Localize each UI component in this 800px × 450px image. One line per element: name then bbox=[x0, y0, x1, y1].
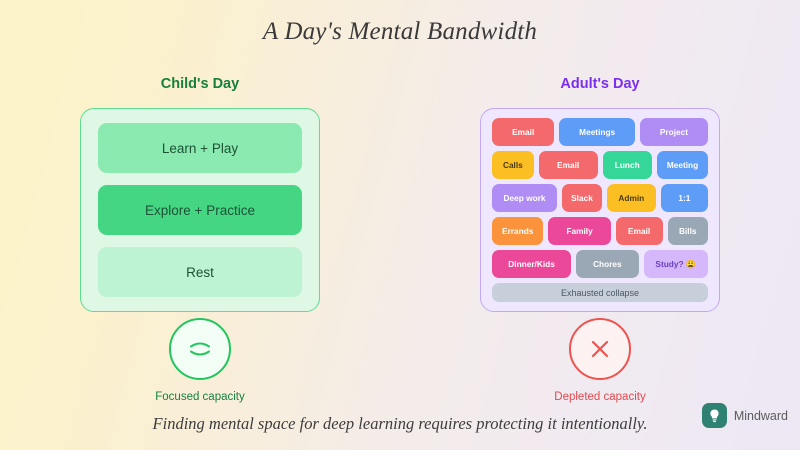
adult-task-chip: Meetings bbox=[559, 118, 635, 146]
adult-chip-grid: EmailMeetingsProjectCallsEmailLunchMeeti… bbox=[492, 118, 708, 278]
footer-note: Finding mental space for deep learning r… bbox=[0, 414, 800, 434]
adult-chip-row: ErrandsFamilyEmailBills bbox=[492, 217, 708, 245]
adult-task-chip: Lunch bbox=[603, 151, 652, 179]
adult-task-chip: Slack bbox=[562, 184, 602, 212]
adult-task-chip: Email bbox=[616, 217, 663, 245]
adult-task-chip: Project bbox=[640, 118, 708, 146]
exhausted-collapse-bar: Exhausted collapse bbox=[492, 283, 708, 302]
adult-task-chip: Family bbox=[548, 217, 610, 245]
capacity-badge-child: Focused capacity bbox=[100, 318, 300, 403]
capacity-badge-adult: Depleted capacity bbox=[500, 318, 700, 403]
adult-task-chip: Errands bbox=[492, 217, 543, 245]
adult-task-chip: Study? 😩 bbox=[644, 250, 708, 278]
child-block-explore-practice: Explore + Practice bbox=[98, 185, 302, 235]
infographic-canvas: A Day's Mental Bandwidth Child's Day Adu… bbox=[0, 0, 800, 450]
child-block-learn-play: Learn + Play bbox=[98, 123, 302, 173]
brand-logo: Mindward bbox=[702, 403, 788, 428]
adult-task-chip: Email bbox=[539, 151, 598, 179]
adult-day-panel: EmailMeetingsProjectCallsEmailLunchMeeti… bbox=[480, 108, 720, 312]
adult-task-chip: Chores bbox=[576, 250, 639, 278]
adult-chip-row: CallsEmailLunchMeeting bbox=[492, 151, 708, 179]
column-heading-adult: Adult's Day bbox=[470, 76, 730, 92]
adult-task-chip: Admin bbox=[607, 184, 656, 212]
adult-chip-row: EmailMeetingsProject bbox=[492, 118, 708, 146]
adult-task-chip: 1:1 bbox=[661, 184, 708, 212]
child-day-panel: Learn + Play Explore + Practice Rest bbox=[80, 108, 320, 312]
x-cross-icon bbox=[569, 318, 631, 380]
capacity-label-adult: Depleted capacity bbox=[500, 391, 700, 403]
adult-task-chip: Email bbox=[492, 118, 554, 146]
adult-task-chip: Calls bbox=[492, 151, 534, 179]
lightbulb-icon bbox=[702, 403, 727, 428]
column-heading-child: Child's Day bbox=[70, 76, 330, 92]
brand-name: Mindward bbox=[734, 409, 788, 423]
page-title: A Day's Mental Bandwidth bbox=[0, 18, 800, 46]
child-block-rest: Rest bbox=[98, 247, 302, 297]
adult-task-chip: Deep work bbox=[492, 184, 557, 212]
adult-task-chip: Dinner/Kids bbox=[492, 250, 571, 278]
adult-task-chip: Meeting bbox=[657, 151, 708, 179]
capacity-label-child: Focused capacity bbox=[100, 391, 300, 403]
focus-lens-icon bbox=[169, 318, 231, 380]
adult-task-chip: Bills bbox=[668, 217, 709, 245]
adult-chip-row: Dinner/KidsChoresStudy? 😩 bbox=[492, 250, 708, 278]
adult-chip-row: Deep workSlackAdmin1:1 bbox=[492, 184, 708, 212]
